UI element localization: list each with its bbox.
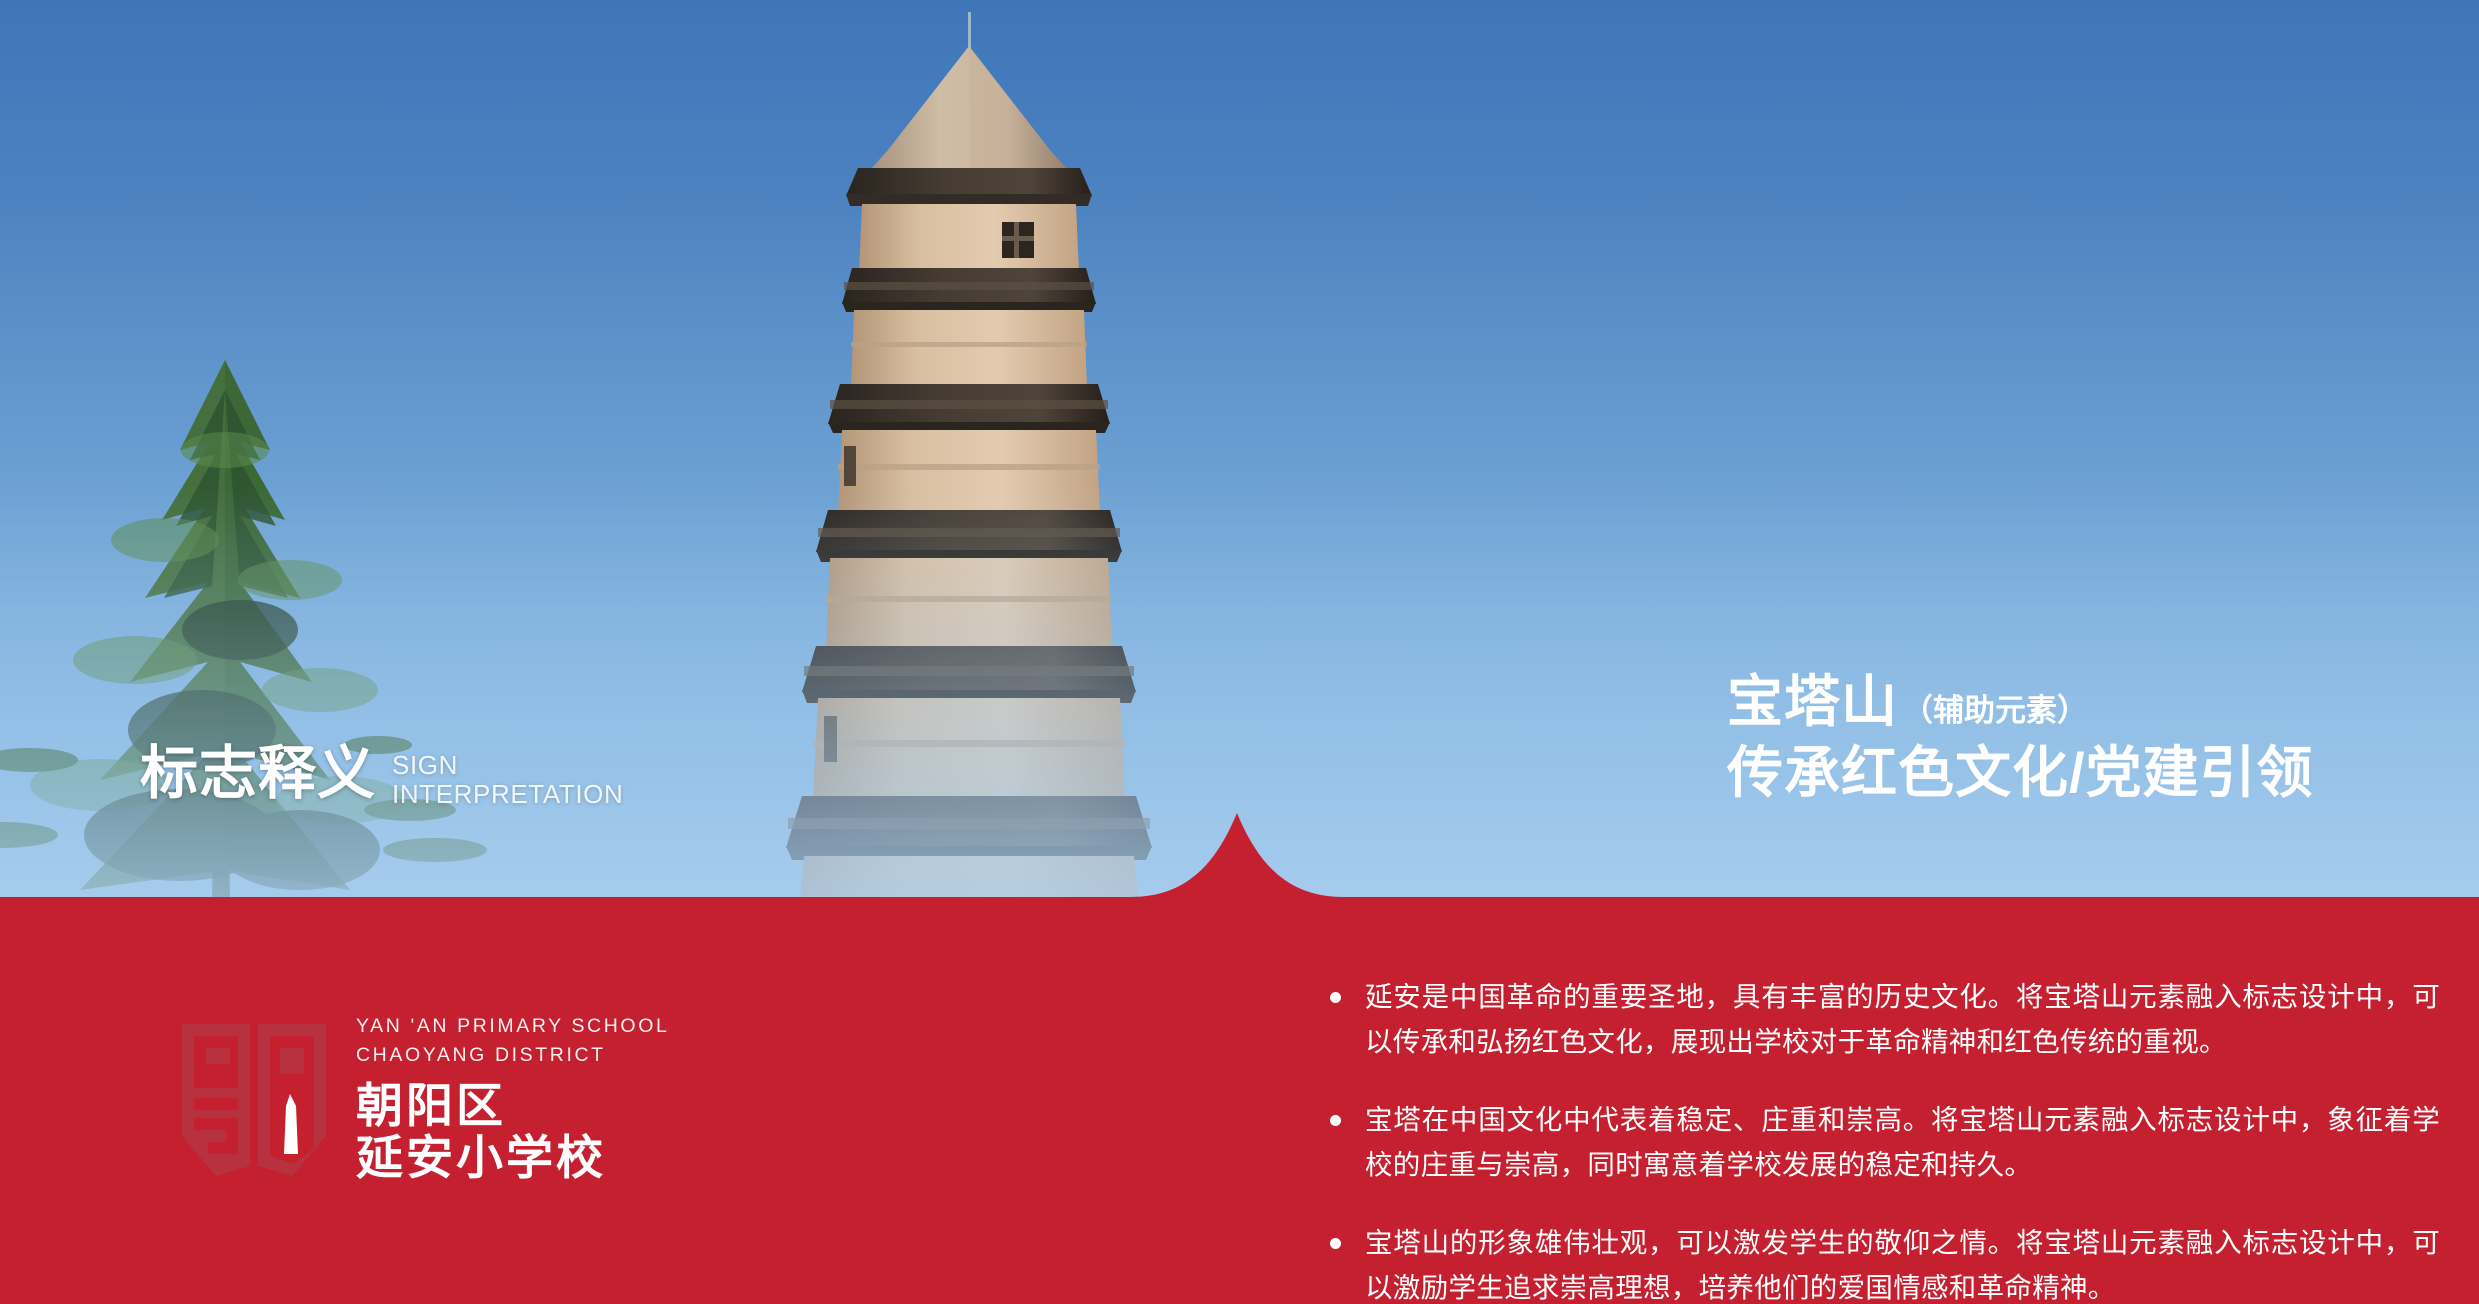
school-name-en-line1: YAN 'AN PRIMARY SCHOOL <box>356 1015 669 1037</box>
list-item-text: 延安是中国革命的重要圣地，具有丰富的历史文化。将宝塔山元素融入标志设计中，可以传… <box>1365 975 2440 1064</box>
bullet-list: 延安是中国革命的重要圣地，具有丰富的历史文化。将宝塔山元素融入标志设计中，可以传… <box>1330 975 2440 1304</box>
headline-row-2: 传承红色文化/党建引领 <box>1727 742 2314 804</box>
school-name-cn-line2: 延安小学校 <box>356 1132 669 1185</box>
bullet-dot-icon <box>1330 992 1341 1003</box>
section-title-en: SIGN INTERPRETATION <box>392 751 623 809</box>
school-name-cn-line1: 朝阳区 <box>356 1080 669 1133</box>
headline-block: 宝塔山 （辅助元素） 传承红色文化/党建引领 <box>1727 672 2314 804</box>
bullet-dot-icon <box>1330 1115 1341 1126</box>
list-item: 宝塔山的形象雄伟壮观，可以激发学生的敬仰之情。将宝塔山元素融入标志设计中，可以激… <box>1330 1221 2440 1304</box>
slide-root: 标志释义 SIGN INTERPRETATION 宝塔山 （辅助元素） 传承红色… <box>0 0 2479 1304</box>
headline-row-1: 宝塔山 （辅助元素） <box>1727 672 2314 732</box>
headline-main-text: 宝塔山 <box>1727 672 1898 732</box>
bullet-dot-icon <box>1330 1238 1341 1249</box>
section-title-cn: 标志释义 <box>140 745 376 803</box>
list-item-text: 宝塔山的形象雄伟壮观，可以激发学生的敬仰之情。将宝塔山元素融入标志设计中，可以激… <box>1365 1221 2440 1304</box>
list-item-text: 宝塔在中国文化中代表着稳定、庄重和崇高。将宝塔山元素融入标志设计中，象征着学校的… <box>1365 1098 2440 1187</box>
book-shield-pagoda-logo-icon <box>178 1018 330 1178</box>
list-item: 宝塔在中国文化中代表着稳定、庄重和崇高。将宝塔山元素融入标志设计中，象征着学校的… <box>1330 1098 2440 1187</box>
school-logo-text: YAN 'AN PRIMARY SCHOOLCHAOYANG DISTRICT … <box>356 1012 669 1185</box>
school-logo-lockup: YAN 'AN PRIMARY SCHOOLCHAOYANG DISTRICT … <box>178 1012 669 1185</box>
section-title: 标志释义 SIGN INTERPRETATION <box>140 745 623 809</box>
headline-sub-text: （辅助元素） <box>1902 685 2088 730</box>
school-name-en-line2: CHAOYANG DISTRICT <box>356 1044 606 1066</box>
school-name-en: YAN 'AN PRIMARY SCHOOLCHAOYANG DISTRICT <box>356 1012 669 1071</box>
list-item: 延安是中国革命的重要圣地，具有丰富的历史文化。将宝塔山元素融入标志设计中，可以传… <box>1330 975 2440 1064</box>
